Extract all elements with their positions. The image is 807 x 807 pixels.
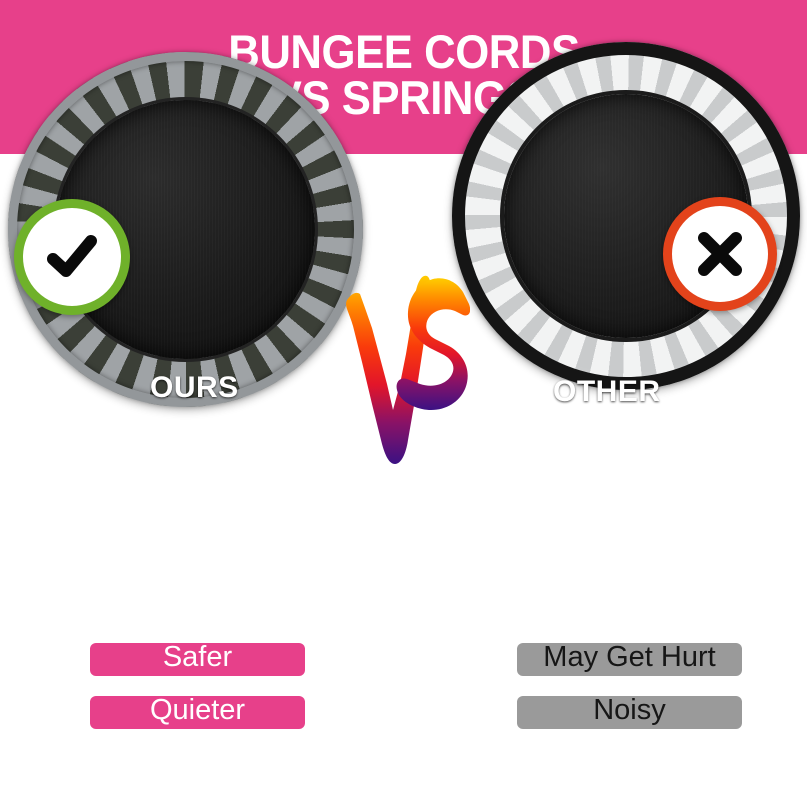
left-feature-label-1: Safer [163,643,232,672]
comparison-infographic: BUNGEE CORDS VS SPRINGS OURS OTHER [0,0,807,807]
check-badge [14,199,130,315]
right-feature-pill-1: May Get Hurt [517,643,742,676]
left-feature-label-2: Quieter [150,696,245,725]
left-product-label: OURS [150,371,239,405]
left-feature-pill-2: Quieter [90,696,305,729]
right-product-label: OTHER [553,375,661,409]
versus-graphic [345,258,470,513]
left-feature-pill-1: Safer [90,643,305,676]
check-icon [41,226,103,288]
cross-icon [691,225,749,283]
cross-badge [663,197,777,311]
right-feature-pill-2: Noisy [517,696,742,729]
right-feature-label-2: Noisy [593,696,666,725]
right-feature-label-1: May Get Hurt [543,643,715,672]
